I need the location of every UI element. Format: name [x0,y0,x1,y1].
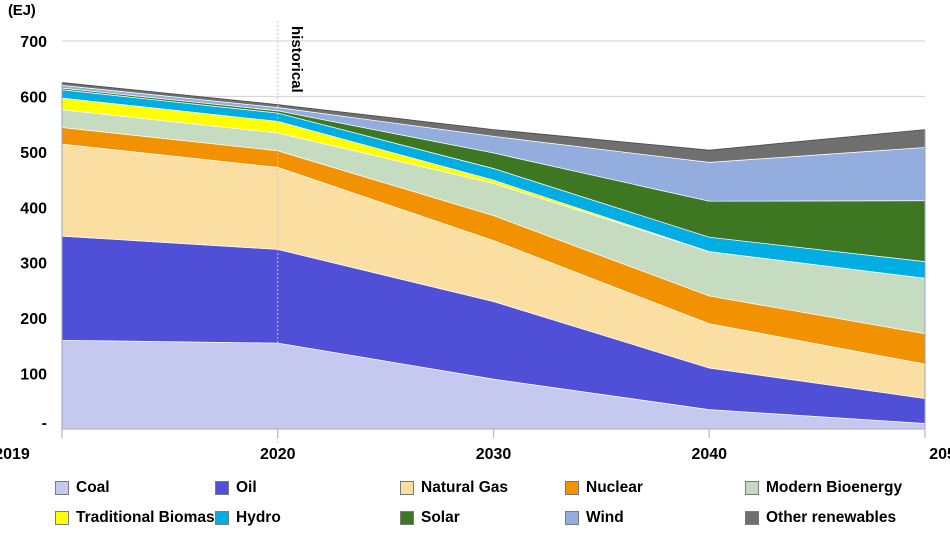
y-tick-label-600: 600 [20,89,47,106]
legend-row-2: Traditional BiomassHydroSolarWindOther r… [0,474,950,534]
x-tick-label-2040: 2040 [691,446,727,463]
legend-swatch-icon [745,511,759,525]
y-tick-label-700: 700 [20,34,47,51]
legend-label: Wind [586,510,624,526]
legend-swatch-icon [55,511,69,525]
legend-label: Other renewables [766,510,896,526]
x-axis-tick-labels: 20192020203020402050 [0,446,950,463]
y-tick-label-100: 100 [20,367,47,384]
y-tick-label-500: 500 [20,145,47,162]
legend-swatch-icon [400,511,414,525]
legend-item-solar[interactable]: Solar [400,510,460,526]
legend-swatch-icon [215,511,229,525]
legend-item-other-renewables[interactable]: Other renewables [745,510,896,526]
legend-label: Hydro [236,510,281,526]
y-tick-label-0: - [42,415,47,432]
legend-item-hydro[interactable]: Hydro [215,510,281,526]
stacked-area-chart: (EJ) historical -100200300400500600700 2… [0,0,950,534]
legend-item-traditional-biomass[interactable]: Traditional Biomass [55,510,223,526]
historical-label: historical [288,26,305,93]
chart-plot-area: historical -100200300400500600700 201920… [0,0,950,474]
y-tick-label-200: 200 [20,311,47,328]
x-tick-label-2019: 2019 [0,446,30,463]
legend-label: Traditional Biomass [76,510,223,526]
x-tick-label-2050: 2050 [929,446,950,463]
chart-legend: CoalOilNatural GasNuclearModern Bioenerg… [0,474,950,534]
y-tick-label-300: 300 [20,256,47,273]
x-tick-label-2030: 2030 [476,446,512,463]
legend-swatch-icon [565,511,579,525]
y-axis-tick-labels: -100200300400500600700 [20,34,47,432]
x-axis-line [62,429,925,438]
legend-item-wind[interactable]: Wind [565,510,624,526]
legend-label: Solar [421,510,460,526]
x-tick-label-2020: 2020 [260,446,296,463]
y-tick-label-400: 400 [20,200,47,217]
area-series-group [62,83,925,429]
